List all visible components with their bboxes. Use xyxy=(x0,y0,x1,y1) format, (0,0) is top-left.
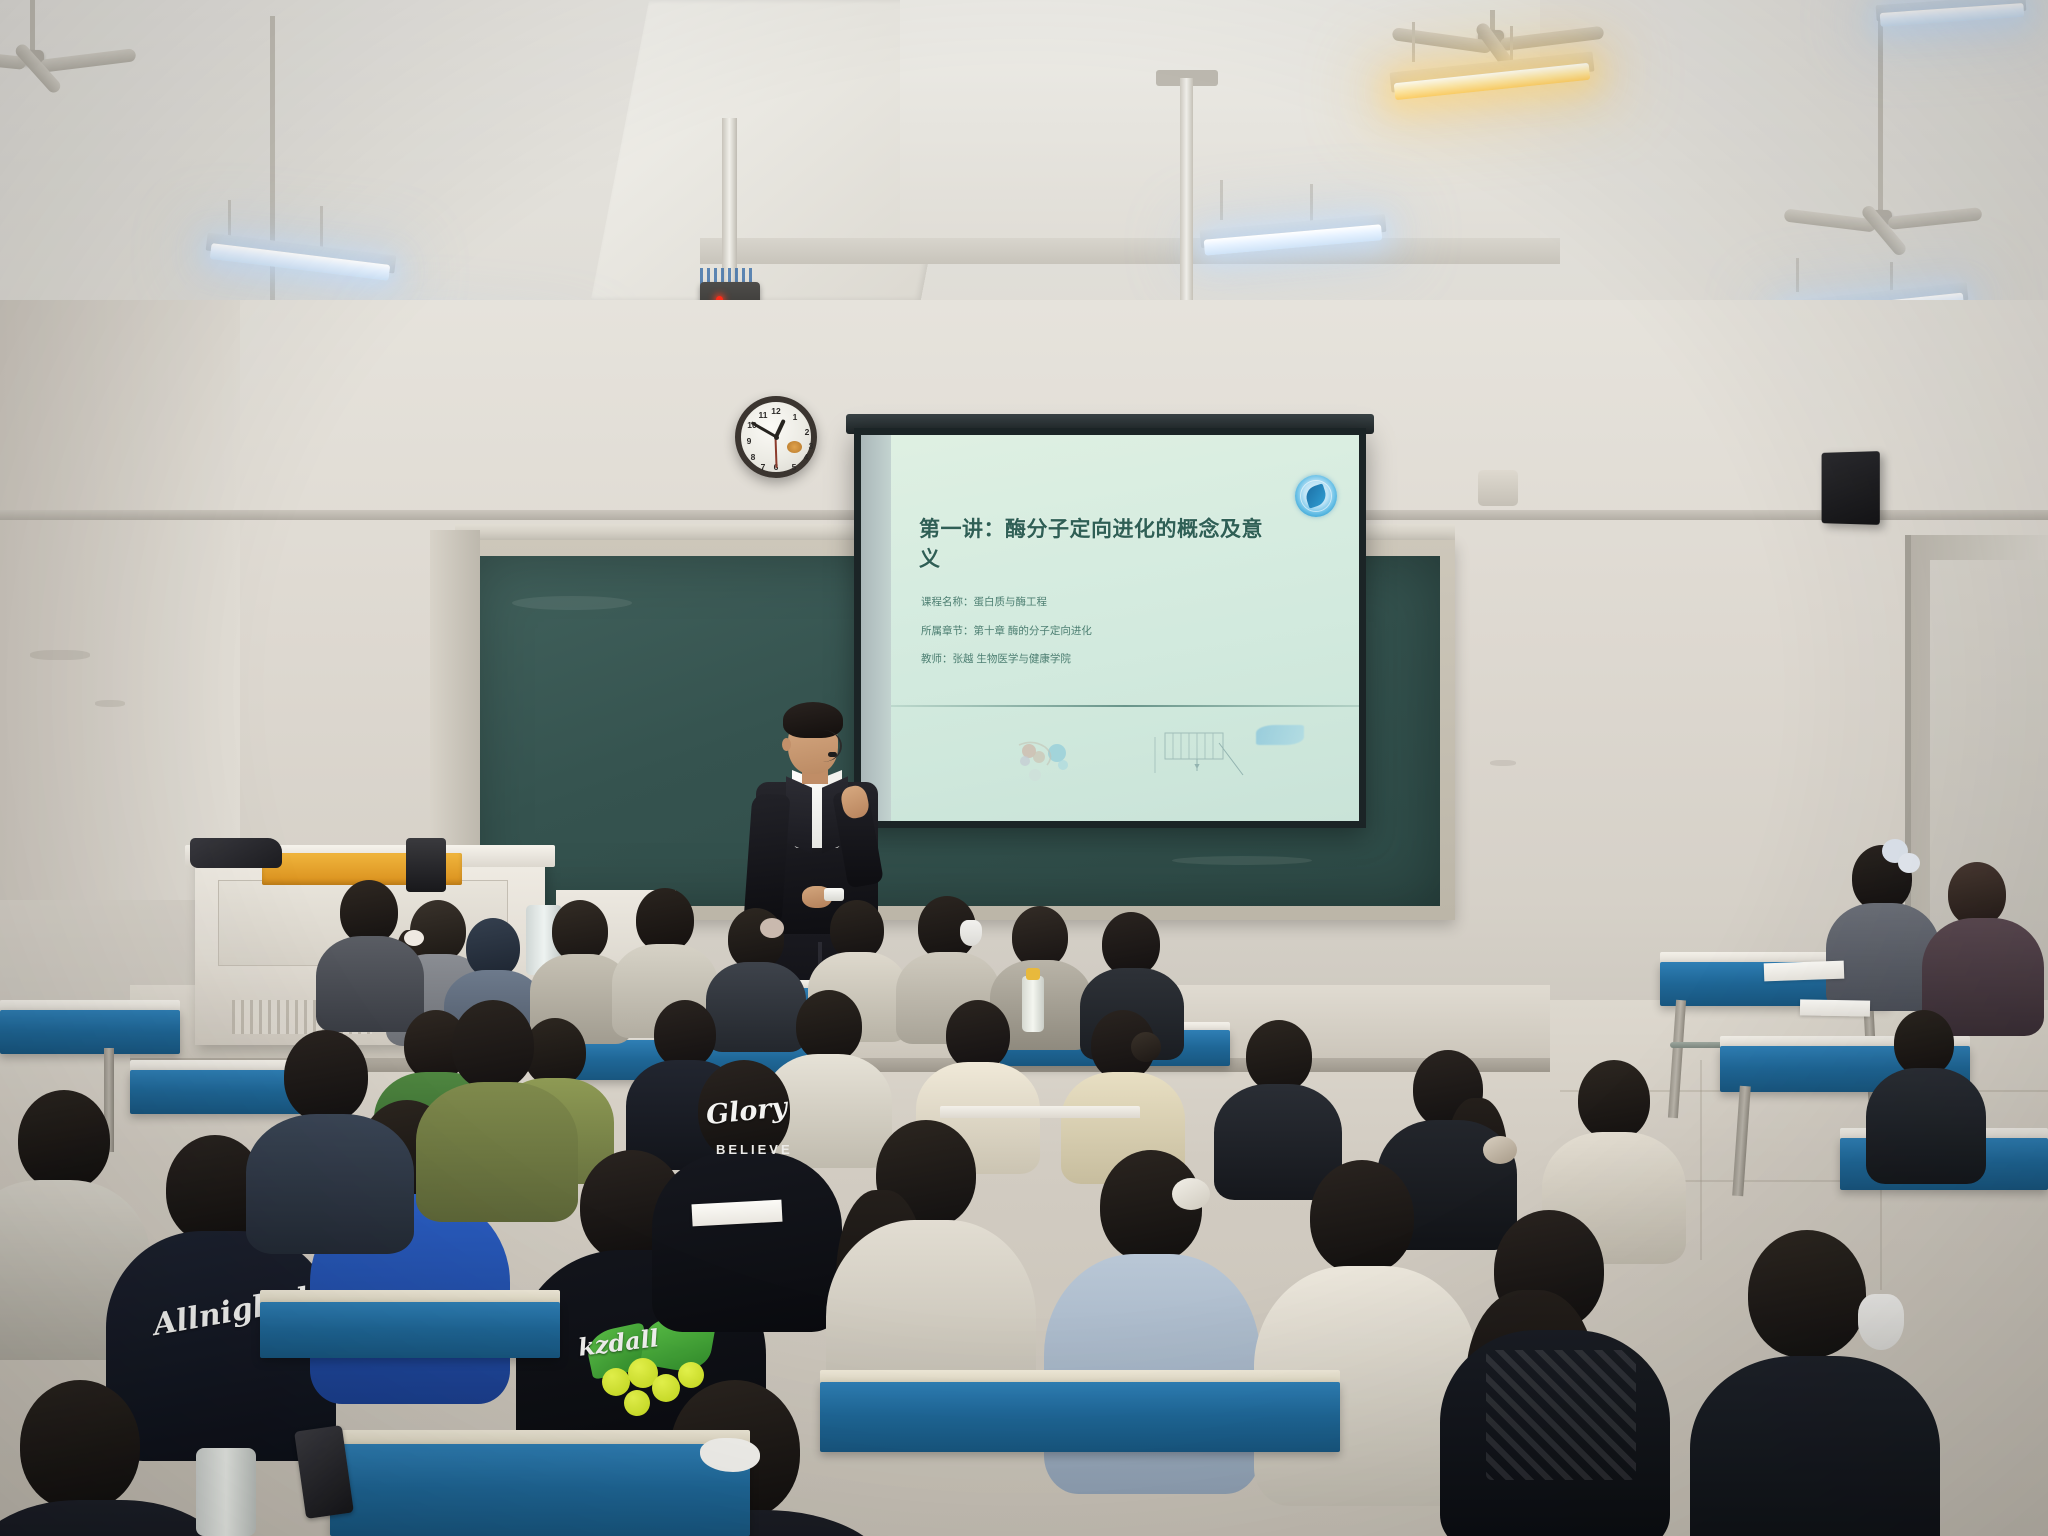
wall-mark xyxy=(1490,760,1516,766)
wall-mark xyxy=(30,650,90,660)
slide-meta-chapter: 所属章节：第十章 酶的分子定向进化 xyxy=(921,617,1319,646)
clock-numeral: 12 xyxy=(770,406,782,416)
desk xyxy=(330,1444,750,1536)
slide-figure-molecule xyxy=(1011,735,1091,787)
floor-tile-line xyxy=(1700,1060,1702,1260)
clock-numeral: 5 xyxy=(788,462,800,472)
wall-speaker xyxy=(1822,451,1880,525)
hoodie-text-believe: BELIEVE xyxy=(716,1142,793,1157)
presentation-clicker[interactable] xyxy=(824,888,844,901)
slide-title: 第一讲：酶分子定向进化的概念及意义 xyxy=(919,513,1273,573)
slide-figure-chart xyxy=(1151,727,1261,787)
hoodie-grape-berry xyxy=(602,1368,630,1396)
notebook-page xyxy=(691,1200,782,1227)
wall-mark xyxy=(95,700,125,707)
clock-numeral: 3 xyxy=(805,441,817,451)
slide-meta-course: 课程名称：蛋白质与酶工程 xyxy=(921,588,1319,617)
clock-numeral: 8 xyxy=(747,452,759,462)
desk xyxy=(0,1010,180,1054)
clock-sticker xyxy=(787,441,802,453)
hoodie-grape-berry xyxy=(624,1390,650,1416)
projection-screen: 第一讲：酶分子定向进化的概念及意义 课程名称：蛋白质与酶工程 所属章节：第十章 … xyxy=(854,428,1366,828)
classroom-photograph: 请勿私拉乱接电线 离开教室请关闭电源 12 1 2 3 4 5 6 7 8 9 … xyxy=(0,0,2048,1536)
water-bottle xyxy=(1022,976,1044,1032)
desk xyxy=(820,1382,1340,1452)
notebook-page xyxy=(1764,961,1845,982)
wall-clock: 12 1 2 3 4 5 6 7 8 9 10 11 xyxy=(735,396,817,478)
lectern-speaker xyxy=(406,838,446,892)
hair-scrunchie xyxy=(1172,1178,1210,1210)
slide-divider xyxy=(891,705,1359,707)
desk xyxy=(260,1302,560,1358)
desk-surface xyxy=(940,1106,1140,1118)
projector-pole xyxy=(1180,78,1193,328)
clock-numeral: 1 xyxy=(789,412,801,422)
presentation-slide: 第一讲：酶分子定向进化的概念及意义 课程名称：蛋白质与酶工程 所属章节：第十章 … xyxy=(861,435,1359,821)
slide-metadata: 课程名称：蛋白质与酶工程 所属章节：第十章 酶的分子定向进化 教师：张越 生物医… xyxy=(921,588,1319,674)
headset-microphone-icon xyxy=(828,752,837,757)
face-mask xyxy=(1858,1294,1904,1350)
clock-second-hand xyxy=(775,437,778,468)
lecturer-ear xyxy=(782,738,791,751)
slide-figure-accent xyxy=(1256,725,1304,745)
clock-numeral: 7 xyxy=(757,462,769,472)
clock-numeral: 11 xyxy=(757,410,769,420)
beam-soffit xyxy=(700,238,1560,264)
lecturer-lapel-left xyxy=(786,776,812,854)
headset-microphone-band-icon xyxy=(804,730,842,762)
hoodie-grape-berry xyxy=(652,1374,680,1402)
university-emblem-icon xyxy=(1295,475,1337,517)
patterned-bag xyxy=(1486,1350,1636,1480)
clock-center-pin xyxy=(774,435,779,440)
wall-junction-box xyxy=(1478,470,1518,506)
bottle-cap xyxy=(1026,968,1040,980)
thermos-bottle xyxy=(196,1448,256,1536)
hoodie-grape-berry xyxy=(678,1362,704,1388)
clock-numeral: 2 xyxy=(801,427,813,437)
clock-numeral: 9 xyxy=(743,436,755,446)
slide-meta-teacher: 教师：张越 生物医学与健康学院 xyxy=(921,645,1319,674)
lectern-cloth xyxy=(190,838,282,868)
camera-pole xyxy=(722,118,737,290)
clock-numeral: 4 xyxy=(800,452,812,462)
notebook-page xyxy=(1800,999,1870,1016)
